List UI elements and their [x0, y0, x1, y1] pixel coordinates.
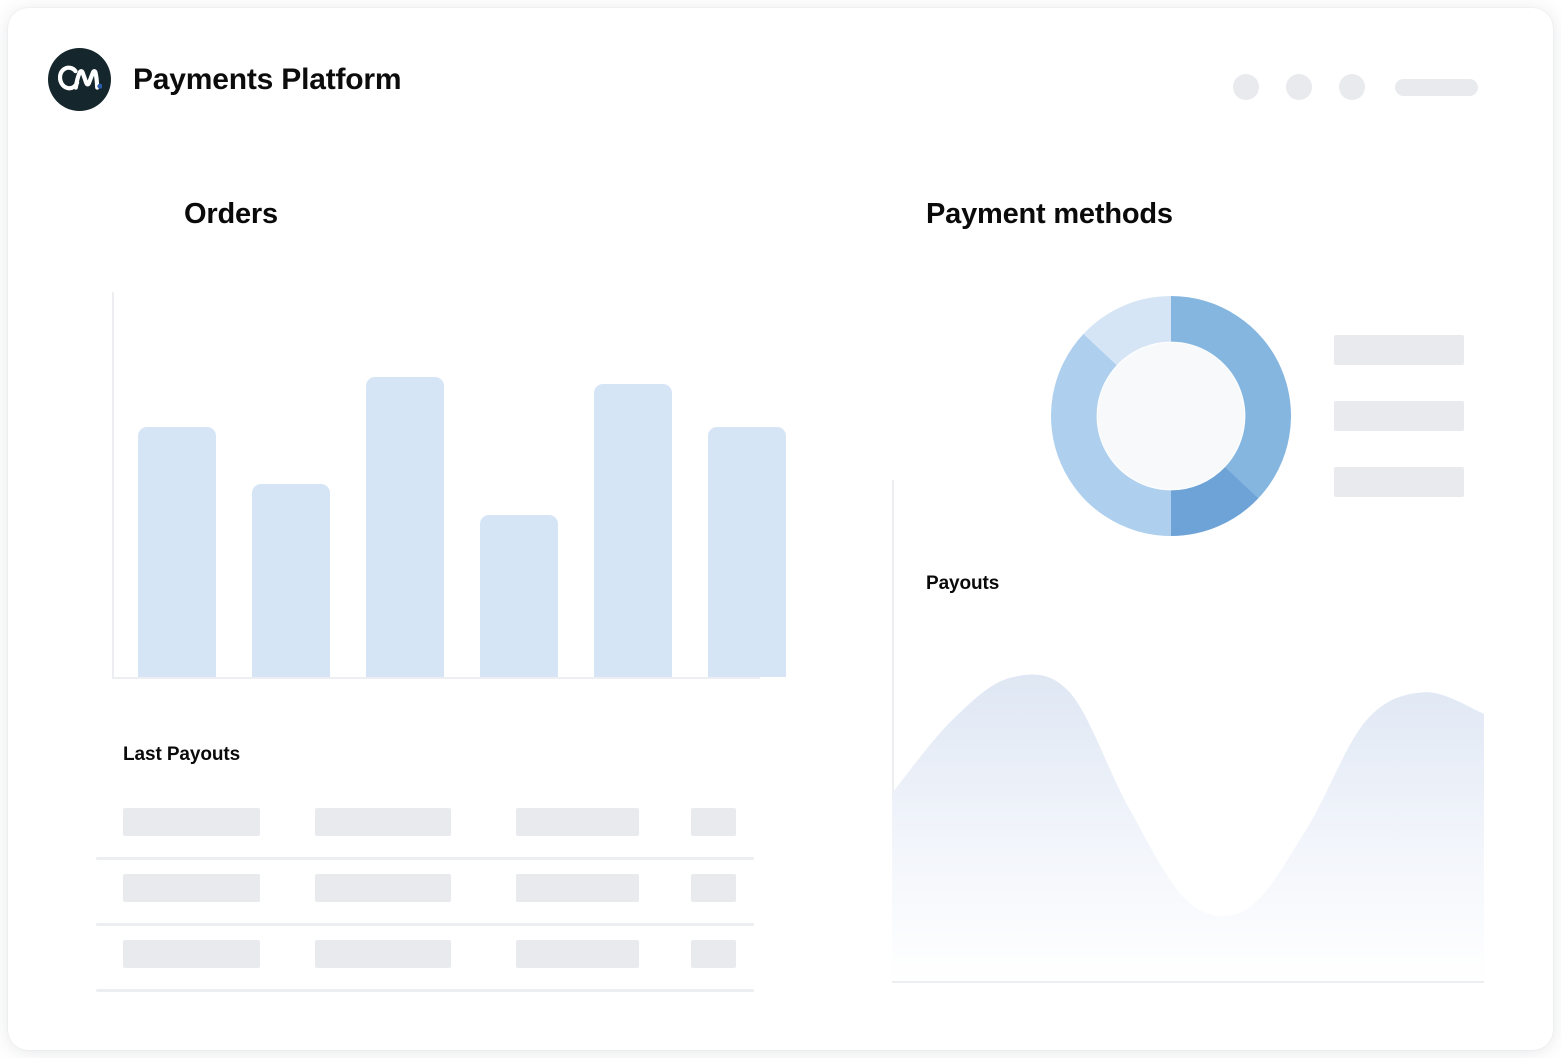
table-row-cells [96, 860, 754, 926]
table-cell-placeholder [315, 940, 451, 968]
orders-chart-bars [112, 292, 760, 679]
payouts-area-chart [892, 620, 1484, 981]
app-window: Payments Platform Orders Last Payouts Pa… [8, 8, 1553, 1050]
legend-item-placeholder[interactable] [1334, 335, 1464, 365]
payment-methods-section-title: Payment methods [926, 198, 1173, 231]
orders-section-title: Orders [184, 198, 278, 231]
table-row[interactable] [96, 860, 754, 926]
orders-bar-chart [112, 292, 760, 679]
table-cell-placeholder [691, 808, 736, 836]
table-cell-placeholder [315, 808, 451, 836]
donut-center [1098, 343, 1245, 490]
table-cell-placeholder [123, 874, 260, 902]
window-dot-3[interactable] [1339, 74, 1365, 100]
table-cell-placeholder [691, 940, 736, 968]
table-cell-placeholder [315, 874, 451, 902]
last-payouts-title: Last Payouts [123, 744, 240, 766]
orders-bar[interactable] [366, 377, 444, 677]
last-payouts-table [96, 794, 754, 992]
legend-item-placeholder[interactable] [1334, 401, 1464, 431]
window-dot-1[interactable] [1233, 74, 1259, 100]
orders-bar[interactable] [594, 384, 672, 677]
table-row[interactable] [96, 794, 754, 860]
table-cell-placeholder [691, 874, 736, 902]
window-header: Payments Platform [8, 8, 1553, 134]
table-cell-placeholder [516, 874, 639, 902]
window-address-bar[interactable] [1395, 79, 1478, 96]
cm-logo-icon [48, 48, 111, 111]
orders-bar[interactable] [138, 427, 216, 677]
app-title: Payments Platform [133, 63, 401, 97]
table-row-cells [96, 926, 754, 992]
table-cell-placeholder [516, 808, 639, 836]
table-row[interactable] [96, 926, 754, 992]
window-controls [1233, 74, 1478, 100]
orders-bar[interactable] [480, 515, 558, 677]
table-row-divider [96, 989, 754, 992]
brand: Payments Platform [48, 48, 401, 111]
window-dot-2[interactable] [1286, 74, 1312, 100]
table-cell-placeholder [123, 940, 260, 968]
table-cell-placeholder [516, 940, 639, 968]
table-cell-placeholder [123, 808, 260, 836]
payouts-title: Payouts [926, 573, 999, 595]
table-row-cells [96, 794, 754, 860]
orders-bar[interactable] [252, 484, 330, 677]
orders-bar[interactable] [708, 427, 786, 677]
